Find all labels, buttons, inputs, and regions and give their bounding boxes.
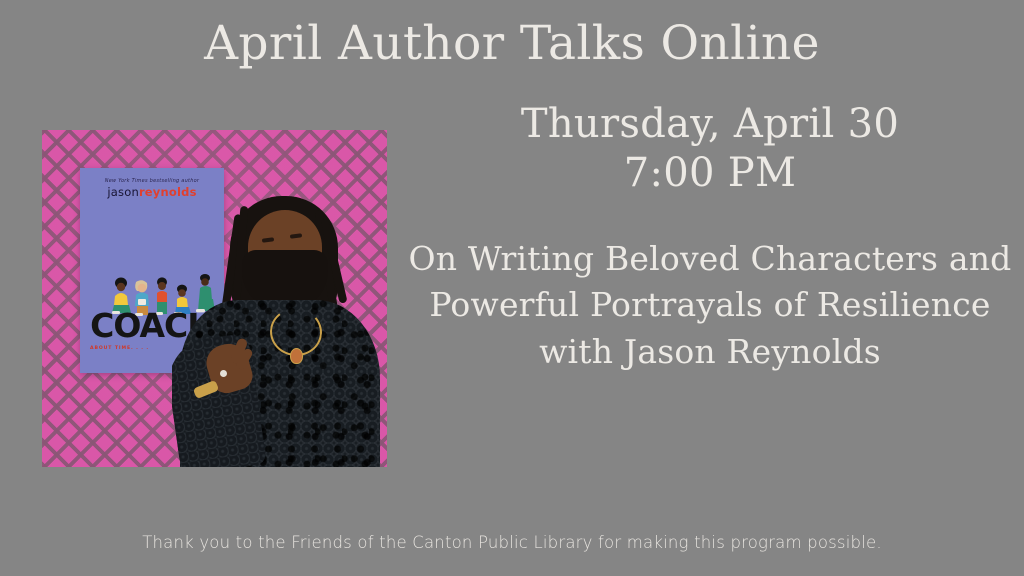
book-cover-kicker: New York Times bestselling author <box>80 178 224 184</box>
book-cover-author-first: jason <box>107 185 139 199</box>
event-time: 7:00 PM <box>396 149 1024 198</box>
author-ring <box>220 370 227 377</box>
talk-title: On Writing Beloved Characters and Powerf… <box>396 236 1024 377</box>
talk-title-line-1: On Writing Beloved Characters and <box>396 236 1024 283</box>
talk-title-line-3: with Jason Reynolds <box>396 329 1024 376</box>
talk-title-line-2: Powerful Portrayals of Resilience <box>396 282 1024 329</box>
author-pendant <box>290 348 303 364</box>
page-title: April Author Talks Online <box>0 18 1024 70</box>
sponsor-credit: Thank you to the Friends of the Canton P… <box>0 533 1024 552</box>
book-cover-tagline: ABOUT TIME. . . . <box>90 346 149 351</box>
event-flyer: April Author Talks Online New York Times… <box>0 0 1024 576</box>
promo-image: New York Times bestselling author jasonr… <box>42 130 387 467</box>
event-details: Thursday, April 30 7:00 PM On Writing Be… <box>396 100 1024 376</box>
author-portrait <box>172 188 387 467</box>
event-date: Thursday, April 30 <box>396 100 1024 149</box>
